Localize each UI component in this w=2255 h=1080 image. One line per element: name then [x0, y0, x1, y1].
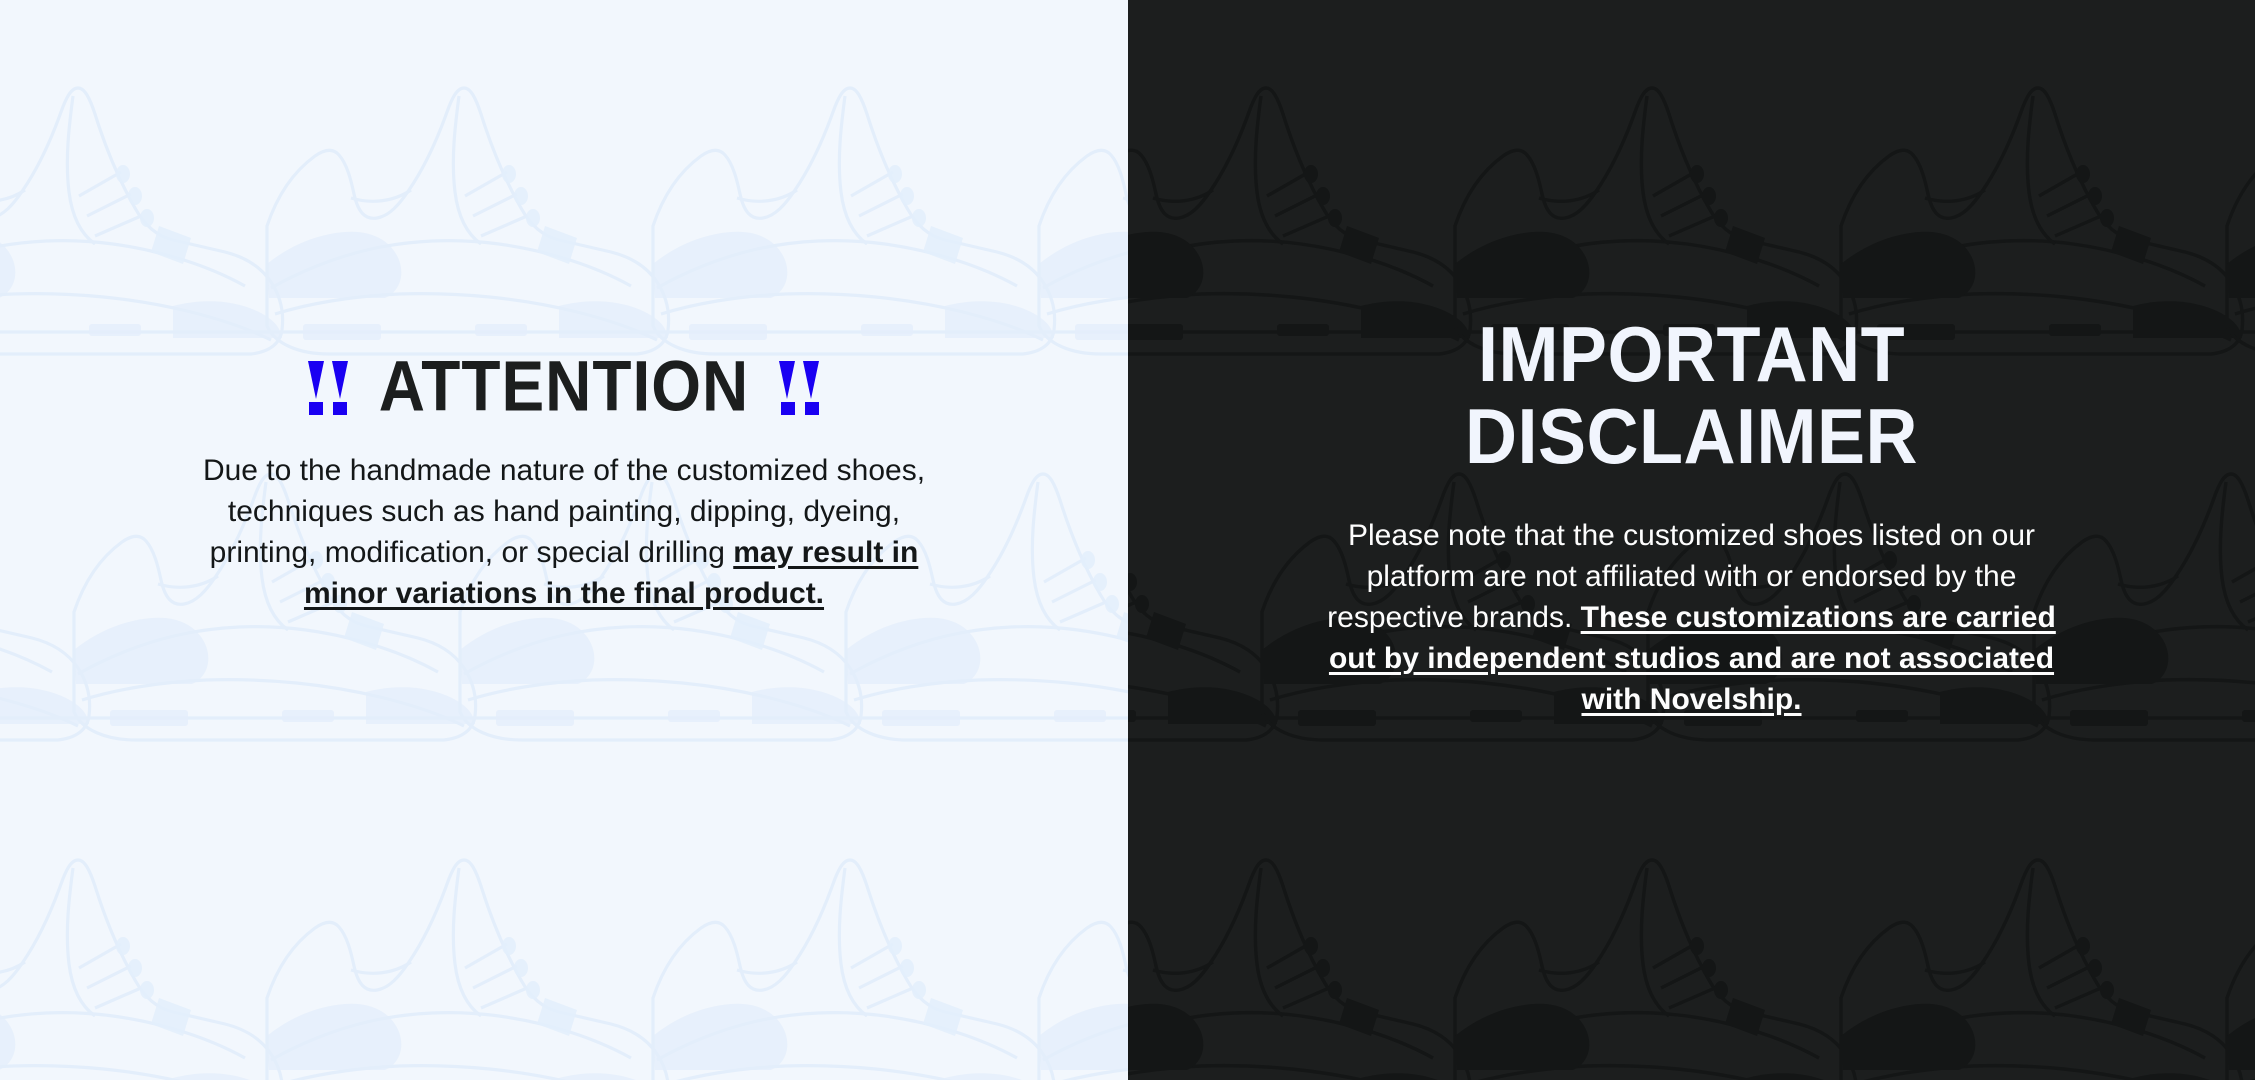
disclaimer-heading: IMPORTANT DISCLAIMER	[1372, 314, 2012, 479]
attention-heading-label: ATTENTION	[379, 351, 749, 421]
disclaimer-content: IMPORTANT DISCLAIMER Please note that th…	[1128, 320, 2255, 720]
attention-content: ATTENTION Due to the handmade nature of …	[0, 355, 1128, 614]
disclaimer-panel: IMPORTANT DISCLAIMER Please note that th…	[1128, 0, 2255, 1080]
disclaimer-body: Please note that the customized shoes li…	[1322, 515, 2062, 720]
double-exclamation-icon-right	[779, 361, 820, 415]
disclaimer-heading-line-1: IMPORTANT	[1372, 314, 2012, 396]
disclaimer-banner: ATTENTION Due to the handmade nature of …	[0, 0, 2255, 1080]
double-exclamation-icon-left	[308, 361, 349, 415]
attention-panel: ATTENTION Due to the handmade nature of …	[0, 0, 1128, 1080]
attention-heading: ATTENTION	[0, 355, 1128, 418]
disclaimer-heading-line-2: DISCLAIMER	[1372, 396, 2012, 478]
attention-body: Due to the handmade nature of the custom…	[199, 450, 929, 614]
